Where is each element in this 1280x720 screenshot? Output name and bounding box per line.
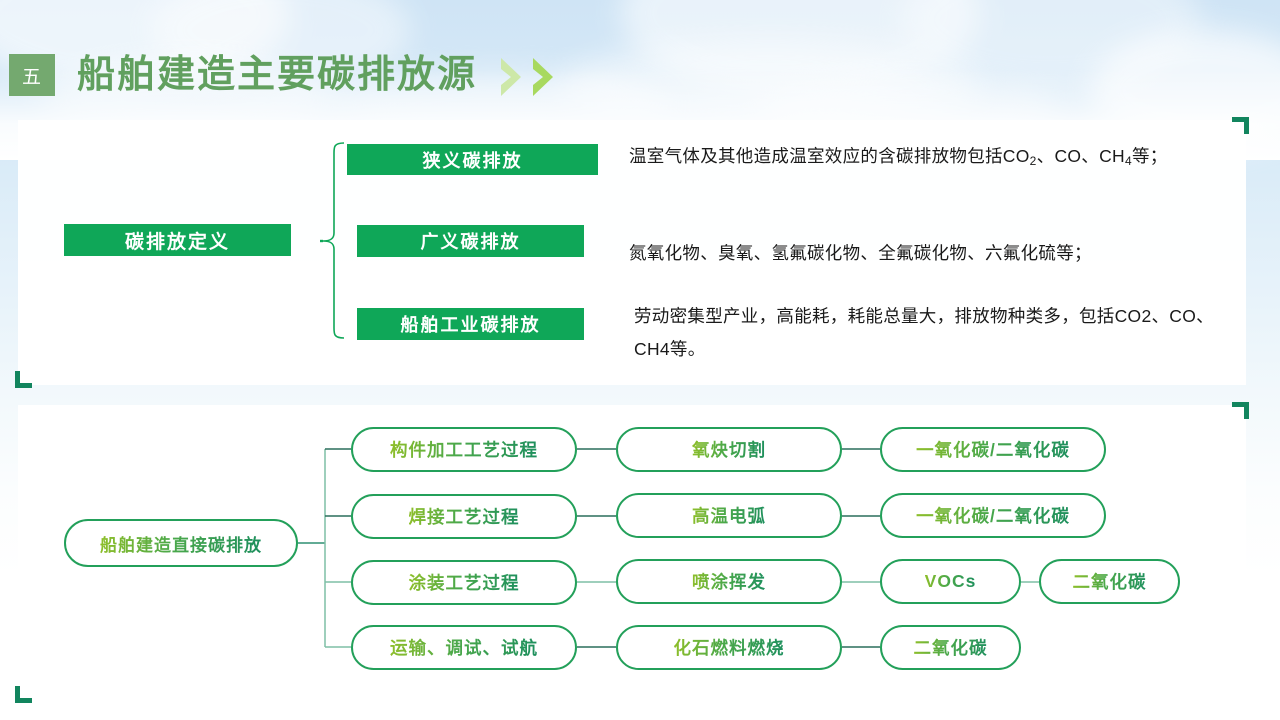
mindmap-process-node[interactable]: 焊接工艺过程 [351,494,577,539]
mindmap-mechanism-node[interactable]: 氧炔切割 [616,427,842,472]
definition-root-label: 碳排放定义 [64,224,291,256]
section-number-badge: 五 [9,54,55,96]
node-label: 二氧化碳 [914,635,988,660]
mindmap-root-label: 船舶建造直接碳排放 [100,531,262,556]
node-label: VOCs [925,571,977,592]
description-text-narrow: 温室气体及其他造成温室效应的含碳排放物包括CO2、CO、CH4等； [629,140,1229,178]
curly-brace-icon [320,141,346,340]
page-title: 船舶建造主要碳排放源 [77,56,477,94]
description-text-shipbuilding: 劳动密集型产业，高能耗，耗能总量大，排放物种类多，包括CO2、CO、CH4等。 [634,300,1234,366]
description-suffix: 等； [1132,146,1168,166]
node-label: 涂装工艺过程 [409,570,520,595]
mindmap-emission-node[interactable]: 二氧化碳 [880,625,1021,670]
mindmap-process-node[interactable]: 运输、调试、试航 [351,625,577,670]
mindmap-secondary-emission-node[interactable]: 二氧化碳 [1039,559,1180,604]
category-box-broad: 广义碳排放 [357,225,584,257]
description-prefix: 温室气体及其他造成温室效应的含碳排放物包括CO [629,146,1030,166]
mindmap-emission-node[interactable]: 一氧化碳/二氧化碳 [880,427,1106,472]
mindmap-process-node[interactable]: 构件加工工艺过程 [351,427,577,472]
node-label: 化石燃料燃烧 [674,635,785,660]
mindmap-emission-node[interactable]: 一氧化碳/二氧化碳 [880,493,1106,538]
slide-stage: 五 船舶建造主要碳排放源 碳排放定义 狭义碳排放 广义碳排放 船舶工业碳排放 温… [0,0,1280,720]
node-label: 喷涂挥发 [692,569,766,594]
node-label: 高温电弧 [692,503,766,528]
node-label: 构件加工工艺过程 [390,437,538,462]
category-box-narrow: 狭义碳排放 [347,144,598,175]
subscript-2: 2 [1030,154,1037,168]
corner-bracket-icon [1232,117,1249,134]
node-label: 一氧化碳/二氧化碳 [916,503,1070,528]
description-mid: 、CO、CH [1037,146,1125,166]
node-label: 焊接工艺过程 [409,504,520,529]
corner-bracket-icon [15,371,32,388]
mindmap-process-node[interactable]: 涂装工艺过程 [351,560,577,605]
node-label: 运输、调试、试航 [390,635,538,660]
node-label: 氧炔切割 [692,437,766,462]
slide-header: 五 船舶建造主要碳排放源 [0,50,561,100]
mindmap-emission-node[interactable]: VOCs [880,559,1021,604]
category-box-shipbuilding: 船舶工业碳排放 [357,308,584,340]
double-chevron-right-icon [499,55,561,99]
subscript-4: 4 [1125,154,1132,168]
mindmap-root-node[interactable]: 船舶建造直接碳排放 [64,519,298,567]
description-text-broad: 氮氧化物、臭氧、氢氟碳化物、全氟碳化物、六氟化硫等； [629,237,1229,270]
mindmap: 船舶建造直接碳排放 构件加工工艺过程 焊接工艺过程 涂装工艺过程 运输、调试、试… [18,405,1246,700]
mindmap-mechanism-node[interactable]: 高温电弧 [616,493,842,538]
node-label: 二氧化碳 [1073,569,1147,594]
mindmap-mechanism-node[interactable]: 喷涂挥发 [616,559,842,604]
mindmap-mechanism-node[interactable]: 化石燃料燃烧 [616,625,842,670]
node-label: 一氧化碳/二氧化碳 [916,437,1070,462]
